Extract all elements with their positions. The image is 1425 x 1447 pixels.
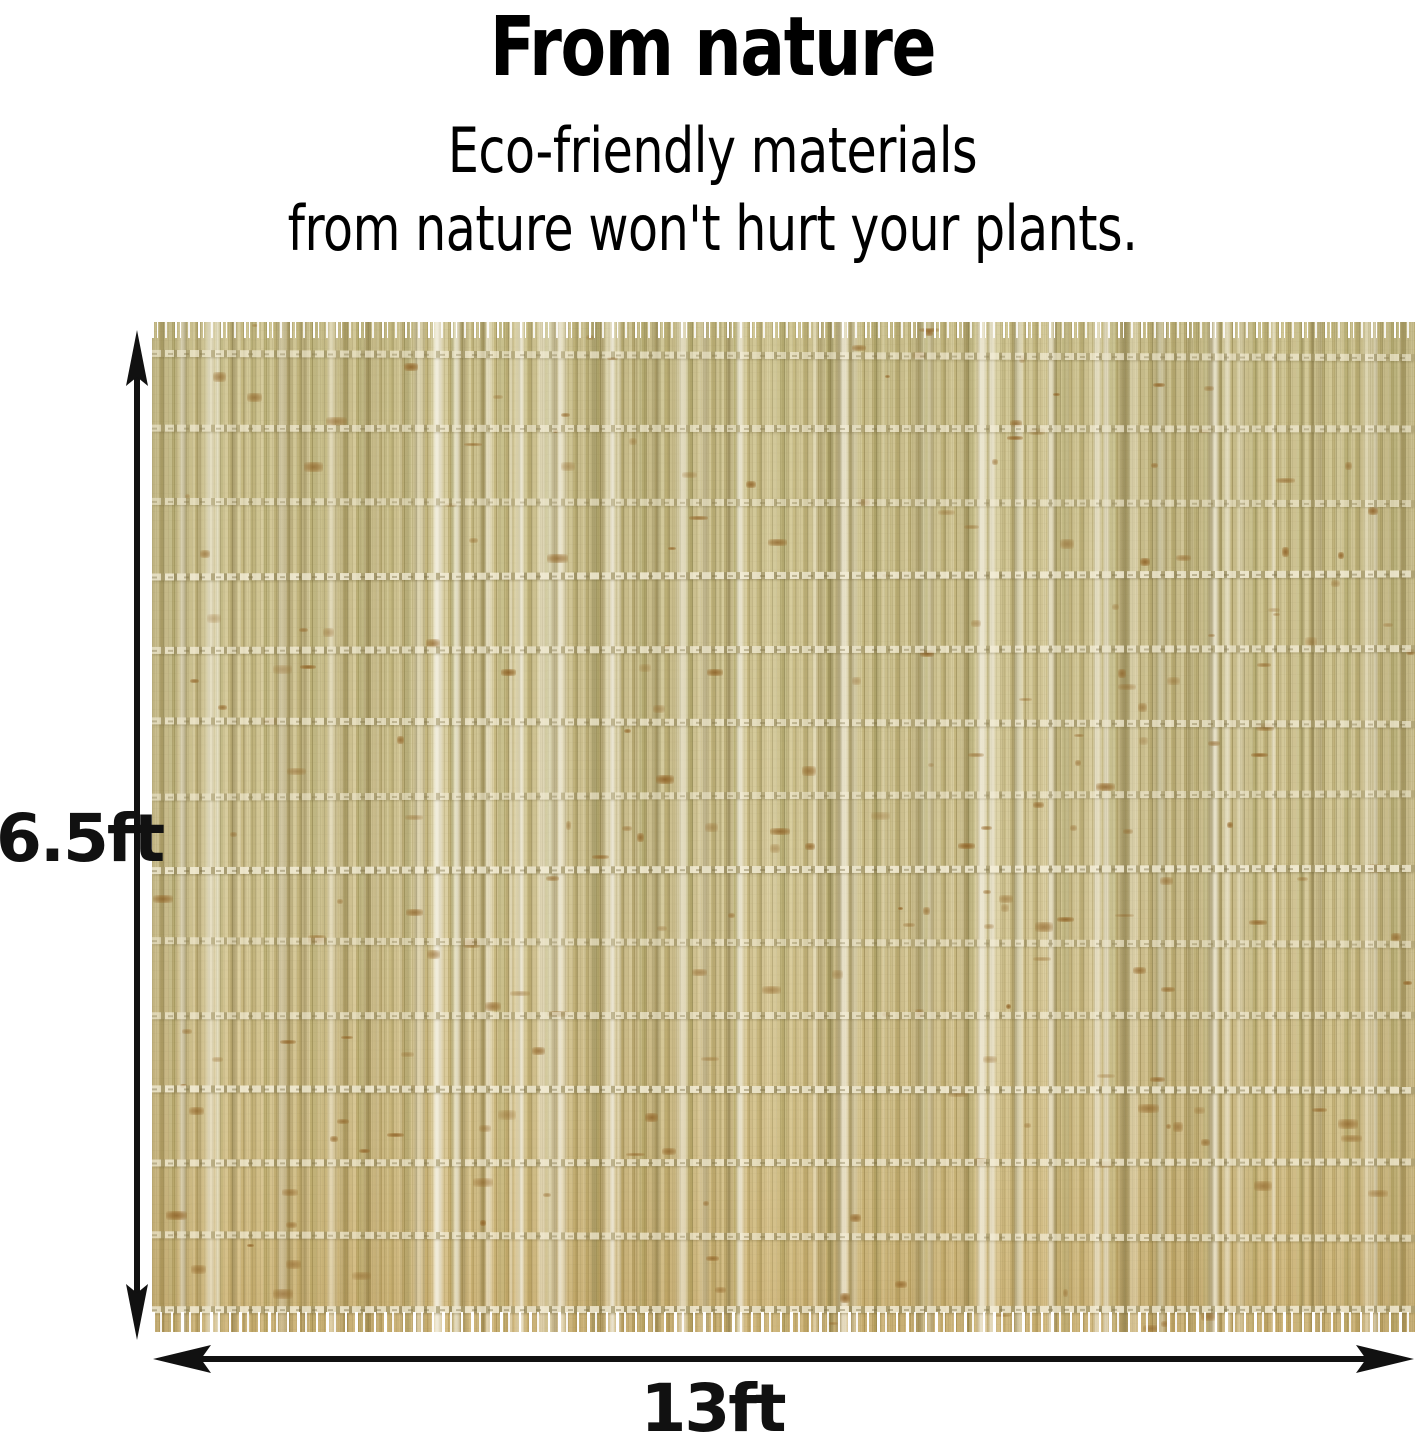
height-arrow bbox=[126, 330, 148, 1340]
width-arrow bbox=[153, 1345, 1414, 1373]
reed-fiber-grain bbox=[152, 322, 1415, 1332]
height-dimension-label: 6.5ft bbox=[0, 806, 148, 872]
page-title: From nature bbox=[71, 6, 1354, 90]
width-arrow-head-right bbox=[1356, 1345, 1414, 1373]
product-image-reed-fence bbox=[152, 322, 1415, 1332]
subtitle-line-2: from nature won't hurt your plants. bbox=[86, 196, 1340, 262]
width-dimension-label: 13ft bbox=[0, 1376, 1425, 1442]
height-arrow-head-top bbox=[126, 330, 148, 386]
width-arrow-head-left bbox=[153, 1345, 211, 1373]
headline-block: From nature Eco-friendly materials from … bbox=[0, 0, 1425, 300]
height-arrow-head-bottom bbox=[126, 1284, 148, 1340]
subtitle-line-1: Eco-friendly materials bbox=[86, 118, 1340, 184]
